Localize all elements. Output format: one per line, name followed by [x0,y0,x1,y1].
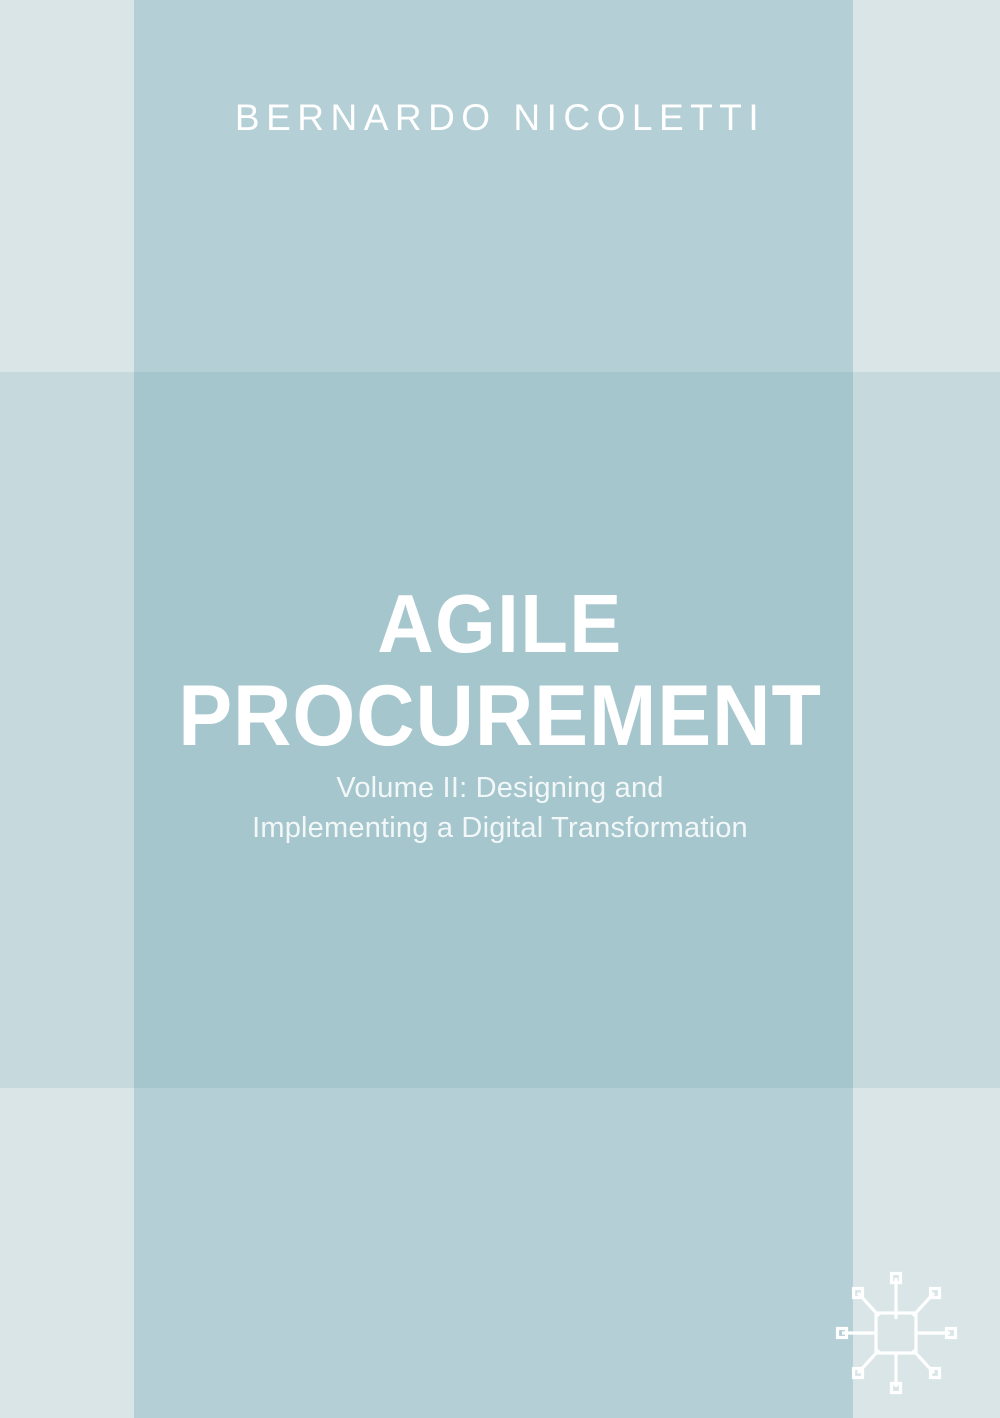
logo-node-e [947,1329,956,1338]
book-title: AGILE PROCUREMENT [0,583,1000,759]
title-line-1: AGILE [30,583,970,664]
subtitle-line-2: Implementing a Digital Transformation [90,808,910,848]
logo-node-s [892,1384,901,1393]
title-line-2: PROCUREMENT [30,674,970,758]
book-subtitle: Volume II: Designing and Implementing a … [0,768,1000,848]
author-name: BERNARDO NICOLETTI [0,98,1000,139]
subtitle-line-1: Volume II: Designing and [90,768,910,808]
book-cover: BERNARDO NICOLETTI AGILE PROCUREMENT Vol… [0,0,1000,1418]
palgrave-macmillan-logo [830,1270,962,1396]
cover-content: BERNARDO NICOLETTI AGILE PROCUREMENT Vol… [0,0,1000,1418]
logo-node-se [931,1369,940,1378]
logo-node-ne [931,1289,940,1298]
